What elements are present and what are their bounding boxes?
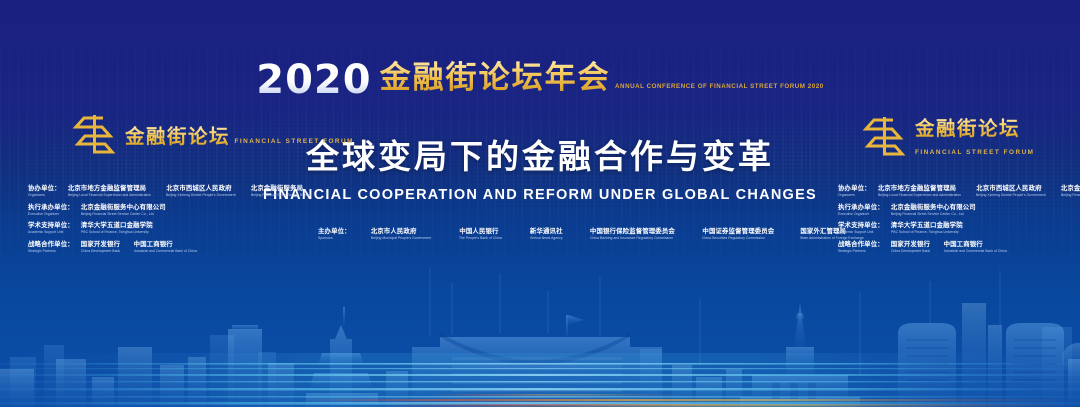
credit-item-cn: 北京市地方金融监督管理局 (68, 185, 155, 193)
sponsor-credits-center: 主办单位：Sponsors北京市人民政府Beijing Municipal Pe… (318, 228, 893, 247)
credit-item-en: Xinhua News Agency (530, 236, 563, 240)
credit-label-en: Organizers (28, 193, 59, 197)
credit-item-cn: 清华大学五道口金融学院 (81, 222, 153, 230)
forum-logo-right-text: 金融街论坛 FINANCIAL STREET FORUM (915, 112, 1080, 159)
credit-item-cn: 北京金融街服务局 (251, 185, 314, 193)
fs-monogram-icon (862, 114, 906, 158)
credit-label-en: Sponsors (318, 236, 349, 240)
credit-row-label: 协办单位：Organizers (28, 185, 61, 198)
credit-item: 中国人民银行The People's Bank of China (459, 228, 504, 241)
credit-items: 北京金融街服务中心有限公司Beijing Financial Street Se… (81, 204, 166, 217)
credit-item: 北京市西城区人民政府Beijing Xicheng District Peopl… (976, 185, 1049, 198)
credit-item: 清华大学五道口金融学院PBC School of Finance, Tsingh… (891, 222, 963, 235)
credit-label-en: Academic Support Unit (28, 230, 72, 234)
credit-item-en: China Development Bank (81, 249, 120, 253)
credit-items: 国家开发银行China Development Bank中国工商银行Indust… (81, 241, 199, 254)
credit-item: 国家开发银行China Development Bank (81, 241, 122, 254)
credit-row: 学术支持单位：Academic Support Unit清华大学五道口金融学院P… (28, 222, 313, 235)
credit-item: 北京金融街服务中心有限公司Beijing Financial Street Se… (81, 204, 166, 217)
credit-item-en: Industrial and Commercial Bank of China (944, 249, 1007, 253)
forum-logo-cn: 金融街论坛 (915, 118, 1020, 140)
credit-item-cn: 北京市地方金融监督管理局 (878, 185, 965, 193)
credit-items: 国家开发银行China Development Bank中国工商银行Indust… (891, 241, 1009, 254)
credit-item-en: China Development Bank (891, 249, 930, 253)
credit-items: 清华大学五道口金融学院PBC School of Finance, Tsingh… (891, 222, 963, 235)
credit-items: 北京金融街服务中心有限公司Beijing Financial Street Se… (891, 204, 976, 217)
credit-item-en: Beijing Financial Street Service Center … (891, 212, 973, 216)
masthead-lockup: 2020 金融街论坛年会 ANNUAL CONFERENCE OF FINANC… (256, 60, 824, 100)
credit-items: 清华大学五道口金融学院PBC School of Finance, Tsingh… (81, 222, 153, 235)
credit-item-cn: 北京金融街服务中心有限公司 (81, 204, 166, 212)
credit-item-cn: 国家开发银行 (891, 241, 932, 249)
credit-item: 北京市西城区人民政府Beijing Xicheng District Peopl… (166, 185, 239, 198)
credit-item-en: PBC School of Finance, Tsinghua Universi… (891, 230, 960, 234)
credit-label-cn: 执行承办单位： (28, 204, 74, 212)
forum-logo-en: FINANCIAL STREET FORUM (915, 149, 1035, 156)
credit-row: 执行承办单位：Executive Organizer北京金融街服务中心有限公司B… (838, 204, 1080, 217)
forum-logo-left: 金融街论坛 FINANCIAL STREET FORUM (72, 112, 354, 156)
credit-label-cn: 协办单位： (28, 185, 61, 193)
credit-row-label: 学术支持单位：Academic Support Unit (838, 222, 884, 235)
event-title-cn: 金融街论坛年会 (380, 60, 611, 95)
credit-item-cn: 北京市西城区人民政府 (166, 185, 239, 193)
forum-logo-en: FINANCIAL STREET FORUM (234, 138, 354, 145)
credit-item-cn: 中国银行保险监督管理委员会 (590, 228, 677, 236)
credit-row-label: 执行承办单位：Executive Organizer (28, 204, 74, 217)
credit-item-en: Beijing Xicheng District People's Govern… (976, 193, 1046, 197)
credit-item: 北京市地方金融监督管理局Beijing Local Financial Supe… (878, 185, 965, 198)
forum-logo-cn: 金融街论坛 (125, 126, 230, 148)
credit-label-en: Executive Organizer (28, 212, 72, 216)
credit-label-cn: 战略合作单位： (838, 241, 884, 249)
credit-item: 清华大学五道口金融学院PBC School of Finance, Tsingh… (81, 222, 153, 235)
credit-items: 北京市地方金融监督管理局Beijing Local Financial Supe… (68, 185, 314, 198)
credit-item-cn: 国家开发银行 (81, 241, 122, 249)
credit-row: 主办单位：Sponsors北京市人民政府Beijing Municipal Pe… (318, 228, 893, 241)
credit-row-label: 战略合作单位：Strategic Partners (838, 241, 884, 254)
forum-logo-right: 金融街论坛 FINANCIAL STREET FORUM (862, 112, 1080, 159)
credit-item-cn: 北京金融街服务局 (1061, 185, 1080, 193)
credit-item-en: China Securities Regulatory Commission (702, 236, 771, 240)
credit-row: 协办单位：Organizers北京市地方金融监督管理局Beijing Local… (838, 185, 1080, 198)
credit-item-en: Beijing Local Financial Supervision and … (68, 193, 151, 197)
credit-item-en: Beijing Financial Street Service Bureau (1061, 193, 1080, 197)
credit-item-en: China Banking and Insurance Regulatory C… (590, 236, 673, 240)
credit-item-en: Beijing Financial Street Service Center … (81, 212, 163, 216)
credit-item-cn: 清华大学五道口金融学院 (891, 222, 963, 230)
credit-label-cn: 学术支持单位： (28, 222, 74, 230)
credit-label-en: Strategic Partners (838, 249, 882, 253)
credit-item-cn: 中国工商银行 (944, 241, 1010, 249)
event-year: 2020 (256, 60, 371, 100)
credit-item-cn: 中国证券监督管理委员会 (702, 228, 774, 236)
conference-backdrop: 2020 金融街论坛年会 ANNUAL CONFERENCE OF FINANC… (0, 0, 1080, 407)
credit-item: 国家开发银行China Development Bank (891, 241, 932, 254)
credit-item: 北京金融街服务中心有限公司Beijing Financial Street Se… (891, 204, 976, 217)
credit-label-en: Strategic Partners (28, 249, 72, 253)
credit-item: 北京市地方金融监督管理局Beijing Local Financial Supe… (68, 185, 155, 198)
credit-item: 中国工商银行Industrial and Commercial Bank of … (944, 241, 1010, 254)
credit-label-cn: 协办单位： (838, 185, 871, 193)
credit-item-en: Industrial and Commercial Bank of China (134, 249, 197, 253)
credit-label-en: Executive Organizer (838, 212, 882, 216)
credit-item: 中国工商银行Industrial and Commercial Bank of … (134, 241, 200, 254)
sponsor-credits-right: 协办单位：Organizers北京市地方金融监督管理局Beijing Local… (838, 185, 1080, 259)
road-light-streaks (0, 337, 1080, 407)
credit-item: 新华通讯社Xinhua News Agency (530, 228, 564, 241)
fs-monogram-icon (72, 112, 116, 156)
credit-item-en: PBC School of Finance, Tsinghua Universi… (81, 230, 150, 234)
credit-item-cn: 新华通讯社 (530, 228, 564, 236)
credit-row-label: 主办单位：Sponsors (318, 228, 351, 241)
credit-item-cn: 北京市西城区人民政府 (976, 185, 1049, 193)
credit-row: 协办单位：Organizers北京市地方金融监督管理局Beijing Local… (28, 185, 313, 198)
forum-logo-left-text: 金融街论坛 FINANCIAL STREET FORUM (125, 120, 354, 149)
credit-label-cn: 学术支持单位： (838, 222, 884, 230)
credit-item-en: Beijing Local Financial Supervision and … (878, 193, 961, 197)
credit-item-cn: 中国人民银行 (459, 228, 504, 236)
credit-item: 中国证券监督管理委员会China Securities Regulatory C… (702, 228, 774, 241)
credit-item: 北京金融街服务局Beijing Financial Street Service… (1061, 185, 1080, 198)
credit-item: 中国银行保险监督管理委员会China Banking and Insurance… (590, 228, 677, 241)
credit-row: 学术支持单位：Academic Support Unit清华大学五道口金融学院P… (838, 222, 1080, 235)
credit-row-label: 学术支持单位：Academic Support Unit (28, 222, 74, 235)
credit-item: 北京市人民政府Beijing Municipal People's Govern… (371, 228, 434, 241)
credit-item-cn: 北京金融街服务中心有限公司 (891, 204, 976, 212)
credit-row: 战略合作单位：Strategic Partners国家开发银行China Dev… (28, 241, 313, 254)
masthead-text: 金融街论坛年会 ANNUAL CONFERENCE OF FINANCIAL S… (380, 60, 824, 93)
credit-row-label: 协办单位：Organizers (838, 185, 871, 198)
credit-items: 北京市地方金融监督管理局Beijing Local Financial Supe… (878, 185, 1080, 198)
credit-row: 战略合作单位：Strategic Partners国家开发银行China Dev… (838, 241, 1080, 254)
event-title-en: ANNUAL CONFERENCE OF FINANCIAL STREET FO… (615, 83, 824, 90)
credit-item-en: Beijing Xicheng District People's Govern… (166, 193, 236, 197)
credit-item-cn: 中国工商银行 (134, 241, 200, 249)
credit-item-en: The People's Bank of China (459, 236, 502, 240)
credit-item: 北京金融街服务局Beijing Financial Street Service… (251, 185, 314, 198)
credit-label-en: Organizers (838, 193, 869, 197)
sponsor-credits-left: 协办单位：Organizers北京市地方金融监督管理局Beijing Local… (28, 185, 313, 259)
credit-item-en: Beijing Municipal People's Government (371, 236, 431, 240)
credit-row-label: 执行承办单位：Executive Organizer (838, 204, 884, 217)
credit-label-cn: 主办单位： (318, 228, 351, 236)
credit-row-label: 战略合作单位：Strategic Partners (28, 241, 74, 254)
credit-row: 执行承办单位：Executive Organizer北京金融街服务中心有限公司B… (28, 204, 313, 217)
credit-item-cn: 北京市人民政府 (371, 228, 434, 236)
credit-label-en: Academic Support Unit (838, 230, 882, 234)
credit-item-en: Beijing Financial Street Service Bureau (251, 193, 311, 197)
credit-label-cn: 执行承办单位： (838, 204, 884, 212)
credit-label-cn: 战略合作单位： (28, 241, 74, 249)
masthead: 2020 金融街论坛年会 ANNUAL CONFERENCE OF FINANC… (0, 60, 1080, 100)
credit-items: 北京市人民政府Beijing Municipal People's Govern… (371, 228, 893, 241)
